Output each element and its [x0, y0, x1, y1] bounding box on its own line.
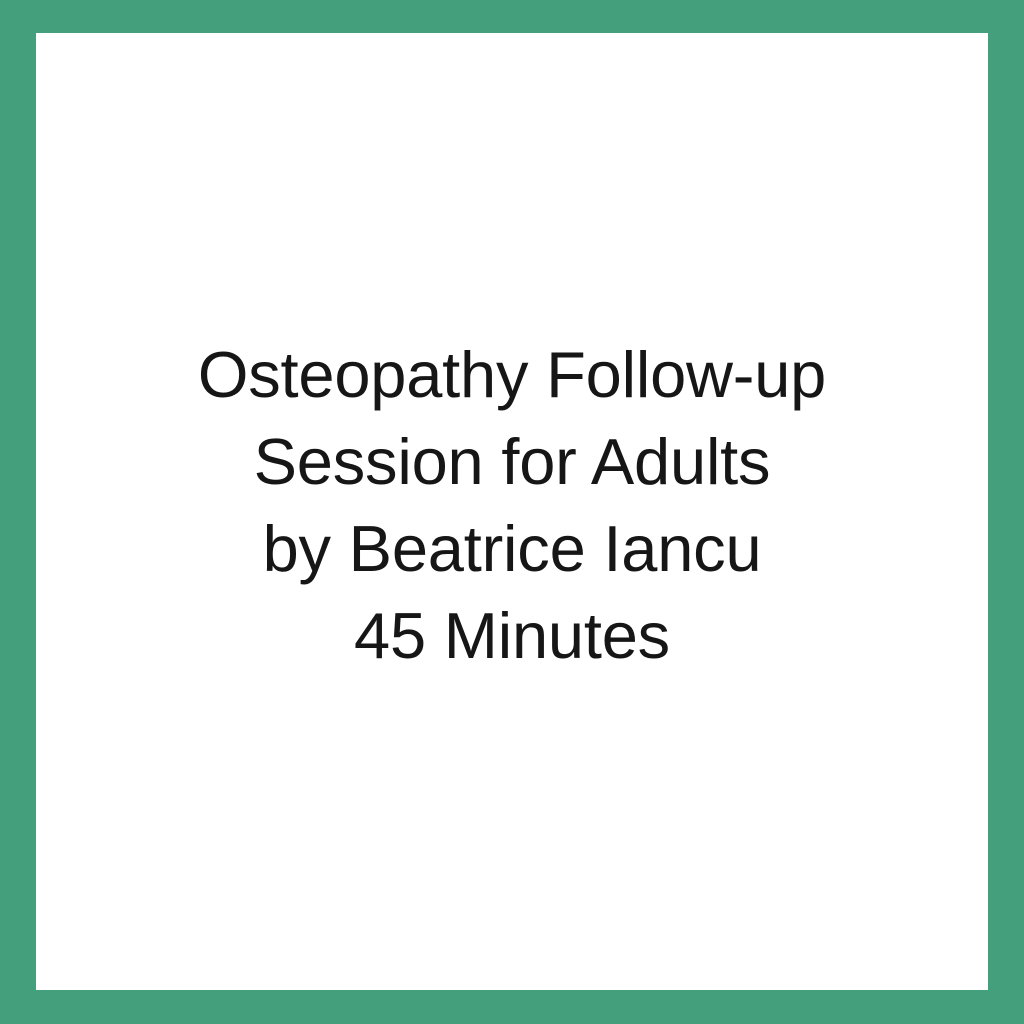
service-card: Osteopathy Follow-up Session for Adults …: [0, 0, 1024, 1024]
service-duration: 45 Minutes: [36, 592, 988, 679]
service-title-line-2: Session for Adults: [36, 418, 988, 505]
service-text-block: Osteopathy Follow-up Session for Adults …: [36, 331, 988, 679]
service-author: by Beatrice Iancu: [36, 505, 988, 592]
card-white-panel: Osteopathy Follow-up Session for Adults …: [36, 33, 988, 990]
service-title-line-1: Osteopathy Follow-up: [36, 331, 988, 418]
